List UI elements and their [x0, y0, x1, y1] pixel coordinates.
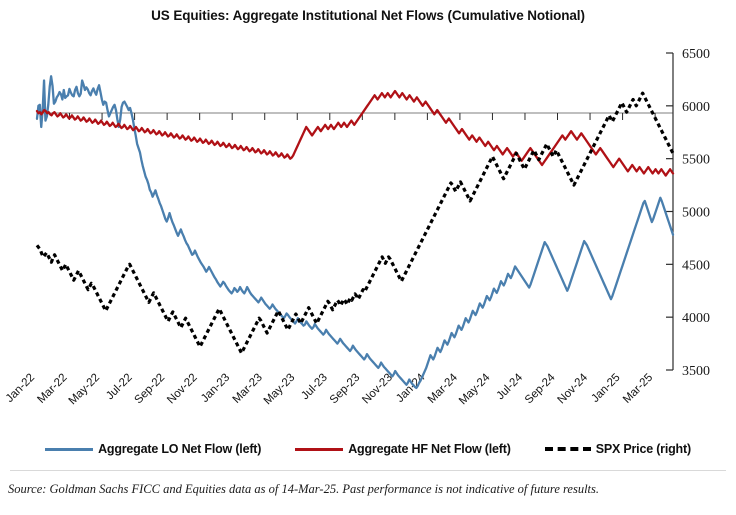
x-tick-label: Mar-25 [621, 372, 655, 406]
x-tick-label: Mar-22 [35, 372, 69, 406]
source-note: Source: Goldman Sachs FICC and Equities … [8, 482, 732, 497]
legend-item-spx-price[interactable]: SPX Price (right) [545, 442, 691, 456]
y-tick-label: 6000 [682, 100, 710, 115]
y-tick-label: 6500 [682, 47, 710, 62]
legend-swatch-icon [295, 448, 343, 451]
x-tick-label: Nov-23 [360, 372, 395, 407]
x-tick-label: Sep-22 [133, 372, 168, 407]
right-axis-ticks [666, 53, 673, 370]
x-axis-tick-labels: Jan-22Mar-22May-22Jul-22Sep-22Nov-22Jan-… [4, 371, 655, 407]
chart-legend: Aggregate LO Net Flow (left)Aggregate HF… [0, 436, 736, 462]
x-tick-label: Sep-23 [328, 372, 363, 407]
x-tick-label: May-24 [457, 371, 493, 407]
x-tick-label: Jan-22 [4, 372, 37, 405]
data-series-group [37, 76, 673, 388]
x-tick-label: Nov-24 [555, 371, 590, 406]
y-tick-label: 5000 [682, 206, 710, 221]
x-tick-label: May-23 [262, 372, 298, 408]
x-tick-label: Jan-23 [199, 372, 232, 405]
y-tick-label: 3500 [682, 364, 710, 379]
y-tick-label: 4500 [682, 258, 710, 273]
legend-swatch-icon [45, 448, 93, 451]
legend-label: SPX Price (right) [596, 442, 691, 456]
legend-swatch-icon [545, 447, 591, 451]
x-tick-label: May-22 [67, 372, 103, 408]
chart-container: US Equities: Aggregate Institutional Net… [0, 0, 736, 515]
x-tick-label: Jul-23 [299, 372, 330, 403]
legend-item-hf-net-flow[interactable]: Aggregate HF Net Flow (left) [295, 442, 510, 456]
legend-label: Aggregate HF Net Flow (left) [348, 442, 510, 456]
legend-item-lo-net-flow[interactable]: Aggregate LO Net Flow (left) [45, 442, 261, 456]
footer-divider [10, 470, 726, 471]
x-tick-label: Jul-22 [104, 372, 135, 403]
series-line-hf-net-flow [37, 91, 673, 176]
y-tick-label: 4000 [682, 311, 710, 326]
x-tick-label: Mar-23 [231, 372, 265, 406]
x-tick-label: Jul-24 [494, 371, 525, 402]
x-tick-label: Mar-24 [426, 371, 461, 406]
legend-label: Aggregate LO Net Flow (left) [98, 442, 261, 456]
series-line-spx-price [37, 93, 673, 353]
y-tick-label: 5500 [682, 153, 710, 168]
x-tick-label: Jan-25 [589, 372, 622, 405]
right-axis-tick-labels: 6500600055005000450040003500 [682, 47, 710, 379]
x-axis-ticks [37, 113, 655, 120]
x-tick-label: Nov-22 [165, 372, 200, 407]
x-tick-label: Sep-24 [523, 371, 558, 406]
